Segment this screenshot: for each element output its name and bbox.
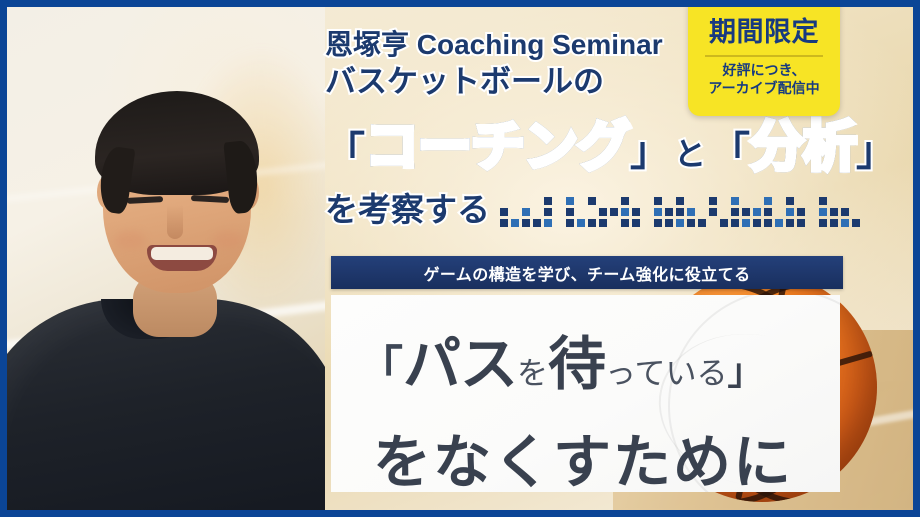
- dot-matrix-cell: [654, 208, 662, 216]
- dot-matrix-cell: [522, 197, 530, 205]
- dot-matrix-cell: [819, 197, 827, 205]
- dot-matrix-cell: [511, 219, 519, 227]
- dot-matrix-cell: [819, 208, 827, 216]
- dot-matrix-cell: [841, 197, 849, 205]
- dot-matrix-cell: [764, 219, 772, 227]
- dot-matrix-cell: [786, 208, 794, 216]
- dot-matrix-column: [775, 197, 783, 227]
- dot-matrix-column: [687, 197, 695, 227]
- dot-matrix-cell: [522, 208, 530, 216]
- panel-bracket-close: 」: [727, 343, 763, 395]
- dot-matrix-cell: [676, 219, 684, 227]
- dot-matrix-cell: [709, 219, 717, 227]
- panel-suffix-tteiru: っている: [605, 348, 727, 393]
- badge-divider: [705, 55, 823, 57]
- dot-matrix-column: [731, 197, 739, 227]
- dot-matrix-cell: [742, 219, 750, 227]
- keyword-coaching: コーチング: [365, 102, 630, 181]
- panel-line2-text: をなくすために: [373, 415, 793, 492]
- dot-matrix-cell: [621, 219, 629, 227]
- consider-text: を考察する: [325, 183, 490, 231]
- dot-matrix-cell: [599, 208, 607, 216]
- dot-matrix-cell: [852, 197, 860, 205]
- coach-mouth: [147, 245, 217, 271]
- dot-matrix-cell: [819, 219, 827, 227]
- dot-matrix-decoration: [500, 197, 860, 231]
- dot-matrix-cell: [830, 208, 838, 216]
- dot-matrix-column: [797, 197, 805, 227]
- dot-matrix-cell: [742, 197, 750, 205]
- coach-cheek-left: [115, 231, 145, 249]
- dot-matrix-cell: [775, 219, 783, 227]
- dot-matrix-cell: [731, 208, 739, 216]
- dot-matrix-column: [665, 197, 673, 227]
- dot-matrix-cell: [500, 208, 508, 216]
- dot-matrix-cell: [544, 208, 552, 216]
- dot-matrix-cell: [676, 197, 684, 205]
- dot-matrix-column: [753, 197, 761, 227]
- subtitle-banner: ゲームの構造を学び、チーム強化に役立てる: [331, 256, 843, 289]
- dot-matrix-cell: [841, 208, 849, 216]
- dot-matrix-cell: [808, 197, 816, 205]
- conjunction: と: [674, 129, 706, 175]
- dot-matrix-column: [577, 197, 585, 227]
- consider-line: を考察する: [325, 183, 885, 231]
- dot-matrix-cell: [621, 197, 629, 205]
- dot-matrix-cell: [632, 208, 640, 216]
- dot-matrix-cell: [522, 219, 530, 227]
- dot-matrix-cell: [643, 197, 651, 205]
- main-title-line-2: をなくすために: [373, 415, 840, 492]
- dot-matrix-cell: [797, 219, 805, 227]
- bracket-close-1: 」: [630, 119, 670, 177]
- dot-matrix-column: [764, 197, 772, 227]
- dot-matrix-cell: [643, 219, 651, 227]
- dot-matrix-cell: [698, 208, 706, 216]
- dot-matrix-cell: [698, 219, 706, 227]
- dot-matrix-cell: [830, 219, 838, 227]
- dot-matrix-cell: [643, 208, 651, 216]
- dot-matrix-cell: [830, 197, 838, 205]
- dot-matrix-cell: [764, 208, 772, 216]
- dot-matrix-cell: [632, 219, 640, 227]
- dot-matrix-cell: [731, 219, 739, 227]
- dot-matrix-column: [522, 197, 530, 227]
- dot-matrix-cell: [555, 208, 563, 216]
- dot-matrix-column: [852, 197, 860, 227]
- dot-matrix-cell: [753, 197, 761, 205]
- dot-matrix-column: [654, 197, 662, 227]
- dot-matrix-cell: [797, 208, 805, 216]
- dot-matrix-cell: [786, 197, 794, 205]
- dot-matrix-cell: [665, 219, 673, 227]
- dot-matrix-column: [720, 197, 728, 227]
- dot-matrix-cell: [709, 208, 717, 216]
- dot-matrix-cell: [533, 219, 541, 227]
- dot-matrix-cell: [621, 208, 629, 216]
- dot-matrix-cell: [665, 208, 673, 216]
- dot-matrix-column: [544, 197, 552, 227]
- dot-matrix-cell: [720, 197, 728, 205]
- panel-particle-wo: を: [517, 348, 548, 393]
- dot-matrix-cell: [500, 219, 508, 227]
- dot-matrix-column: [808, 197, 816, 227]
- dot-matrix-cell: [566, 208, 574, 216]
- dot-matrix-cell: [687, 219, 695, 227]
- dot-matrix-cell: [654, 197, 662, 205]
- dot-matrix-cell: [786, 219, 794, 227]
- dot-matrix-cell: [544, 219, 552, 227]
- dot-matrix-cell: [577, 208, 585, 216]
- dot-matrix-cell: [764, 197, 772, 205]
- dot-matrix-cell: [566, 219, 574, 227]
- dot-matrix-cell: [797, 197, 805, 205]
- dot-matrix-column: [786, 197, 794, 227]
- dot-matrix-column: [709, 197, 717, 227]
- dot-matrix-cell: [577, 219, 585, 227]
- dot-matrix-cell: [753, 219, 761, 227]
- dot-matrix-column: [643, 197, 651, 227]
- coach-teeth: [151, 247, 213, 260]
- dot-matrix-cell: [687, 208, 695, 216]
- promo-banner: 期間限定 好評につき、 アーカイブ配信中 恩塚亨 Coaching Semina…: [0, 0, 920, 517]
- panel-word-pass: パス: [403, 317, 517, 401]
- badge-subtitle: 好評につき、 アーカイブ配信中: [708, 62, 819, 98]
- dot-matrix-cell: [698, 197, 706, 205]
- dot-matrix-cell: [610, 219, 618, 227]
- dot-matrix-cell: [742, 208, 750, 216]
- dot-matrix-cell: [720, 219, 728, 227]
- dot-matrix-column: [819, 197, 827, 227]
- dot-matrix-cell: [555, 219, 563, 227]
- dot-matrix-cell: [544, 197, 552, 205]
- dot-matrix-cell: [852, 219, 860, 227]
- dot-matrix-cell: [588, 197, 596, 205]
- bracket-close-2: 」: [856, 119, 896, 177]
- dot-matrix-column: [676, 197, 684, 227]
- dot-matrix-column: [841, 197, 849, 227]
- dot-matrix-column: [500, 197, 508, 227]
- coach-photo: [7, 7, 325, 510]
- dot-matrix-cell: [566, 197, 574, 205]
- dot-matrix-column: [511, 197, 519, 227]
- dot-matrix-cell: [511, 208, 519, 216]
- dot-matrix-column: [555, 197, 563, 227]
- dot-matrix-cell: [588, 208, 596, 216]
- dot-matrix-column: [742, 197, 750, 227]
- dot-matrix-column: [830, 197, 838, 227]
- dot-matrix-cell: [577, 197, 585, 205]
- dot-matrix-cell: [654, 219, 662, 227]
- main-title-panel: 「 パス を 待 っている 」 をなくすために: [331, 295, 840, 492]
- dot-matrix-column: [533, 197, 541, 227]
- limited-time-badge: 期間限定 好評につき、 アーカイブ配信中: [688, 0, 840, 116]
- dot-matrix-cell: [841, 219, 849, 227]
- dot-matrix-cell: [555, 197, 563, 205]
- main-title-line-1: 「 パス を 待 っている 」: [357, 317, 840, 401]
- dot-matrix-cell: [665, 197, 673, 205]
- dot-matrix-cell: [533, 208, 541, 216]
- dot-matrix-column: [588, 197, 596, 227]
- dot-matrix-cell: [511, 197, 519, 205]
- dot-matrix-column: [698, 197, 706, 227]
- dot-matrix-cell: [500, 197, 508, 205]
- dot-matrix-cell: [610, 208, 618, 216]
- dot-matrix-cell: [808, 219, 816, 227]
- dot-matrix-cell: [599, 197, 607, 205]
- dot-matrix-cell: [775, 197, 783, 205]
- dot-matrix-cell: [720, 208, 728, 216]
- dot-matrix-column: [610, 197, 618, 227]
- dot-matrix-cell: [533, 197, 541, 205]
- dot-matrix-cell: [599, 219, 607, 227]
- panel-bracket-open: 「: [357, 332, 403, 398]
- coach-nose: [167, 205, 183, 239]
- dot-matrix-cell: [852, 208, 860, 216]
- dot-matrix-cell: [731, 197, 739, 205]
- panel-word-wait: 待: [548, 317, 605, 401]
- dot-matrix-cell: [775, 208, 783, 216]
- bracket-open-1: 「: [325, 119, 365, 177]
- dot-matrix-cell: [588, 219, 596, 227]
- dot-matrix-cell: [676, 208, 684, 216]
- coach-cheek-right: [213, 231, 243, 249]
- bracket-open-2: 「: [710, 119, 750, 177]
- dot-matrix-column: [599, 197, 607, 227]
- dot-matrix-column: [566, 197, 574, 227]
- dot-matrix-cell: [632, 197, 640, 205]
- dot-matrix-cell: [753, 208, 761, 216]
- dot-matrix-cell: [687, 197, 695, 205]
- badge-title: 期間限定: [709, 18, 819, 48]
- subtitle-banner-text: ゲームの構造を学び、チーム強化に役立てる: [423, 261, 750, 285]
- dot-matrix-cell: [709, 197, 717, 205]
- dot-matrix-column: [621, 197, 629, 227]
- dot-matrix-column: [632, 197, 640, 227]
- dot-matrix-cell: [808, 208, 816, 216]
- dot-matrix-cell: [610, 197, 618, 205]
